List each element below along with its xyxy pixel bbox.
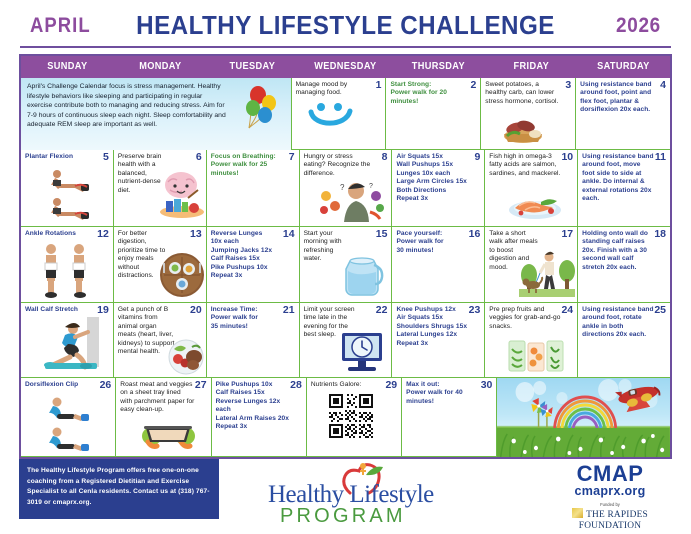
day-cell-25[interactable]: 25 Using resistance band around foot, ro… (578, 303, 670, 378)
day-number: 19 (97, 305, 109, 316)
day-number: 30 (481, 380, 493, 391)
day-text: Ankle Rotations (25, 230, 97, 238)
week-row-1: April's Challenge Calendar focus is stre… (21, 78, 670, 150)
day-text: Nutrients Galore: (311, 381, 385, 389)
day-text: Wall Calf Stretch (25, 306, 97, 314)
calendar-grid: SUNDAY MONDAY TUESDAY WEDNESDAY THURSDAY… (19, 54, 672, 459)
day-cell-18[interactable]: 18 Holding onto wall do standing calf ra… (578, 227, 670, 303)
week-row-3: 12 Ankle Rotations (21, 227, 670, 303)
day-number: 26 (100, 380, 112, 391)
foundation-mark-icon (572, 508, 583, 518)
day-number: 20 (190, 305, 202, 316)
day-number: 5 (103, 152, 109, 163)
day-text: Manage mood by managing food. (296, 81, 370, 98)
day-text: Knee Pushups 12x Air Squats 15x Shoulder… (396, 306, 468, 348)
day-number: 11 (655, 152, 666, 163)
day-text: Air Squats 15x Wall Pushups 15x Lunges 1… (396, 153, 468, 203)
day-cell-24[interactable]: 24 Pre prep fruits and veggies for grab-… (485, 303, 578, 378)
day-cell-4[interactable]: 4 Using resistance band around foot, poi… (576, 78, 670, 150)
day-cell-8[interactable]: 8 Hungry or stress eating? Recognize the… (300, 150, 393, 227)
day-cell-11[interactable]: 11 Using resistance band around foot, mo… (578, 150, 670, 227)
day-cell-2[interactable]: 2 Start Strong: Power walk for 20 minute… (386, 78, 481, 150)
contact-box: The Healthy Lifestyle Program offers fre… (19, 459, 219, 519)
day-cell-29[interactable]: 29 Nutrients Galore: (307, 378, 402, 457)
day-text: Using resistance band around foot, point… (580, 81, 654, 115)
day-cell-23[interactable]: 23 Knee Pushups 12x Air Squats 15x Shoul… (392, 303, 485, 378)
spring-scene-icon (497, 378, 670, 457)
day-text: Sweet potatoes, a healthy carb, can lowe… (485, 81, 559, 106)
weekday-wednesday: WEDNESDAY (303, 56, 388, 78)
day-number: 8 (382, 152, 388, 163)
day-number: 1 (376, 80, 382, 91)
person-with-food-icon: ? ? (314, 180, 388, 224)
day-cell-17[interactable]: 17 Take a short walk after meals to boos… (485, 227, 578, 303)
day-number: 15 (376, 229, 388, 240)
wall-calf-stretch-icon (35, 317, 105, 375)
weekday-thursday: THURSDAY (396, 56, 481, 78)
spring-banner (497, 378, 670, 457)
day-number: 6 (196, 152, 202, 163)
day-cell-13[interactable]: 13 For better digestion, prioritize time… (114, 227, 207, 303)
day-text: Max it out: Power walk for 40 minutes! (406, 381, 480, 406)
day-cell-26[interactable]: 26 Dorsiflexion Clip (21, 378, 116, 457)
day-cell-27[interactable]: 27 Roast meat and veggies on a sheet tra… (116, 378, 211, 457)
standing-ankle-rotation-icon (35, 241, 99, 299)
header-divider (20, 46, 671, 48)
year-label: 2026 (616, 14, 661, 38)
weekday-saturday: SATURDAY (581, 56, 666, 78)
day-number: 27 (195, 380, 207, 391)
seated-plantar-flexion-icon (37, 164, 97, 224)
weekday-friday: FRIDAY (488, 56, 573, 78)
page-title: HEALTHY LIFESTYLE CHALLENGE (24, 10, 667, 41)
day-number: 21 (283, 305, 295, 316)
day-number: 4 (660, 80, 666, 91)
healthy-lifestyle-program-logo: Healthy Lifestyle PROGRAM (258, 463, 468, 525)
weekday-header-row: SUNDAY MONDAY TUESDAY WEDNESDAY THURSDAY… (21, 56, 670, 78)
day-text: Pace yourself: Power walk for 30 minutes… (396, 230, 468, 255)
day-text: Pre prep fruits and veggies for grab-and… (489, 306, 561, 331)
svg-text:?: ? (369, 183, 373, 190)
day-cell-9[interactable]: 9 Air Squats 15x Wall Pushups 15x Lunges… (392, 150, 485, 227)
day-text: Increase Time: Power walk for 35 minutes… (211, 306, 283, 331)
day-cell-3[interactable]: 3 Sweet potatoes, a healthy carb, can lo… (481, 78, 576, 150)
day-text: Limit your screen time late in the eveni… (304, 306, 356, 340)
funded-by-label: Funded by (540, 502, 680, 507)
day-number: 3 (565, 80, 571, 91)
day-number: 23 (469, 305, 481, 316)
smiley-face-icon (308, 100, 354, 132)
day-number: 24 (561, 305, 573, 316)
day-cell-16[interactable]: 16 Pace yourself: Power walk for 30 minu… (392, 227, 485, 303)
day-cell-30[interactable]: 30 Max it out: Power walk for 40 minutes… (402, 378, 497, 457)
day-cell-12[interactable]: 12 Ankle Rotations (21, 227, 114, 303)
masthead: APRIL HEALTHY LIFESTYLE CHALLENGE 2026 (0, 0, 691, 50)
day-text: Pike Pushups 10x Calf Raises 15x Reverse… (216, 381, 296, 431)
day-number: 9 (474, 152, 480, 163)
day-text: Roast meat and veggies on a sheet tray l… (120, 381, 194, 415)
day-text: Using resistance band around foot, rotat… (582, 306, 654, 340)
week-row-5: 26 Dorsiflexion Clip (21, 378, 670, 457)
day-number: 17 (561, 229, 573, 240)
day-cell-20[interactable]: 20 Get a punch of B vitamins from animal… (114, 303, 207, 378)
day-number: 22 (376, 305, 388, 316)
day-cell-1[interactable]: 1 Manage mood by managing food. (292, 78, 387, 150)
cmap-site: cmaprx.org (540, 485, 680, 498)
day-number: 29 (385, 380, 397, 391)
bagged-produce-icon (507, 337, 565, 373)
day-cell-19[interactable]: 19 Wall Calf Stretch (21, 303, 114, 378)
day-text: Start Strong: Power walk for 20 minutes! (390, 81, 464, 106)
calendar-page: APRIL HEALTHY LIFESTYLE CHALLENGE 2026 S… (0, 0, 691, 534)
day-cell-21[interactable]: 21 Increase Time: Power walk for 35 minu… (207, 303, 300, 378)
day-text: Fish high in omega-3 fatty acids are sal… (489, 153, 561, 178)
day-text: Dorsiflexion Clip (25, 381, 99, 389)
day-number: 7 (289, 152, 295, 163)
cmap-name: CMAP (540, 463, 680, 485)
weekday-tuesday: TUESDAY (210, 56, 295, 78)
weeks: April's Challenge Calendar focus is stre… (21, 78, 670, 457)
cmap-logo: CMAP cmaprx.org Funded by THE RAPIDES FO… (540, 463, 680, 525)
day-text: Start your morning with refreshing water… (304, 230, 348, 264)
logo-line-2: PROGRAM (280, 505, 406, 528)
day-cell-28[interactable]: 28 Pike Pushups 10x Calf Raises 15x Reve… (212, 378, 307, 457)
salmon-plate-icon (507, 186, 563, 220)
svg-text:?: ? (340, 183, 345, 192)
day-text: Preserve brain health with a balanced, n… (118, 153, 167, 195)
day-cell-15[interactable]: 15 Start your morning with refreshing wa… (300, 227, 393, 303)
day-cell-6[interactable]: 6 Preserve brain health with a balanced,… (114, 150, 207, 227)
intro-text: April's Challenge Calendar focus is stre… (27, 82, 228, 130)
day-cell-7[interactable]: 7 Focus on Breathing: Power walk for 25 … (207, 150, 300, 227)
balloons-icon (229, 84, 285, 140)
footer: The Healthy Lifestyle Program offers fre… (0, 459, 691, 534)
day-cell-14[interactable]: 14 Reverse Lunges 10x each Jumping Jacks… (207, 227, 300, 303)
day-number: 14 (283, 229, 295, 240)
qr-code[interactable] (327, 392, 375, 440)
day-text: For better digestion, prioritize time to… (118, 230, 168, 280)
weekday-monday: MONDAY (117, 56, 202, 78)
week-row-4: 19 Wall Calf Stretch (21, 303, 670, 378)
day-number: 16 (469, 229, 481, 240)
sweet-potato-basket-icon (499, 112, 547, 144)
day-number: 12 (97, 229, 109, 240)
day-text: Reverse Lunges 10x each Jumping Jacks 12… (211, 230, 283, 280)
day-text: Focus on Breathing: Power walk for 25 mi… (211, 153, 283, 178)
day-text: Take a short walk after meals to boost d… (489, 230, 539, 272)
day-cell-22[interactable]: 22 Limit your screen time late in the ev… (300, 303, 393, 378)
day-text: Get a punch of B vitamins from animal or… (118, 306, 175, 356)
contact-text: The Healthy Lifestyle Program offers fre… (27, 466, 211, 508)
seated-dorsiflexion-icon (37, 392, 99, 454)
intro-banner: April's Challenge Calendar focus is stre… (21, 78, 292, 150)
weekday-sunday: SUNDAY (25, 56, 110, 78)
sheet-tray-icon (140, 418, 196, 450)
day-number: 2 (470, 80, 476, 91)
day-text: Using resistance band around foot, move … (582, 153, 654, 203)
day-number: 13 (190, 229, 202, 240)
day-text: Hungry or stress eating? Recognize the d… (304, 153, 376, 178)
day-number: 10 (561, 152, 573, 163)
day-cell-5[interactable]: 5 Plantar Flexion (21, 150, 114, 227)
foundation-name: THE RAPIDES FOUNDATION (540, 508, 680, 532)
day-cell-10[interactable]: 10 Fish high in omega-3 fatty acids are … (485, 150, 578, 227)
day-text: Plantar Flexion (25, 153, 97, 161)
week-row-2: 5 Plantar Flexion (21, 150, 670, 227)
day-number: 25 (654, 305, 666, 316)
day-number: 28 (290, 380, 302, 391)
day-number: 18 (654, 229, 666, 240)
day-text: Holding onto wall do standing calf raise… (582, 230, 654, 272)
